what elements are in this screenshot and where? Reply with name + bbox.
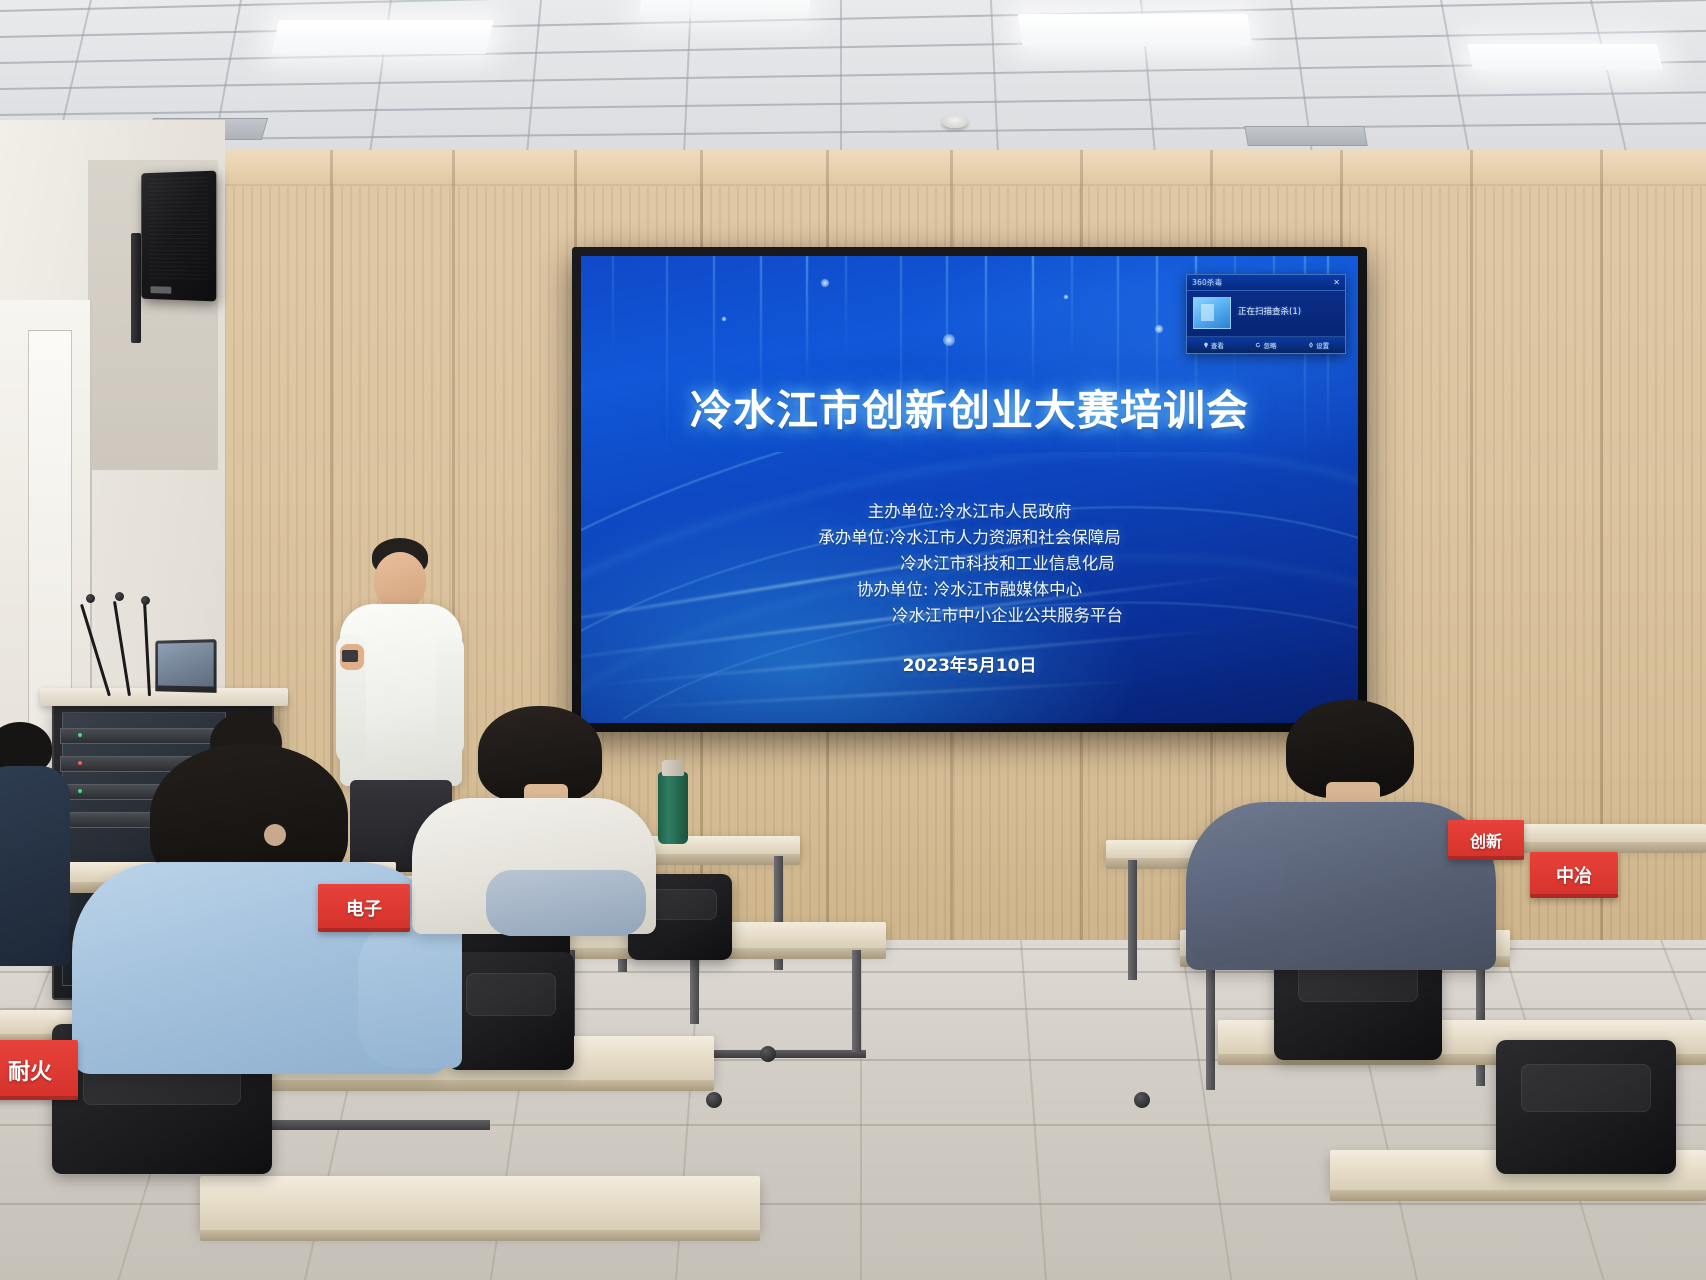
slide-glow-dot xyxy=(821,279,829,287)
gear-icon xyxy=(1308,342,1314,348)
bottle-cap xyxy=(662,760,684,776)
popup-body: 正在扫描查杀(1) xyxy=(1187,291,1345,336)
popup-title-text: 360杀毒 xyxy=(1192,277,1222,288)
table-row xyxy=(200,1176,760,1232)
slide-light-streak xyxy=(1032,256,1034,389)
placard-text: 创新 xyxy=(1470,828,1502,852)
placard-text: 中冶 xyxy=(1556,862,1592,888)
placard-fold xyxy=(1530,894,1618,898)
wood-wall-top-band xyxy=(215,150,1706,186)
slide-glow-dot xyxy=(1155,325,1163,333)
ceiling-light-panel xyxy=(271,20,494,54)
chair xyxy=(448,952,574,1070)
popup-button-bar: 查看 忽略 设置 xyxy=(1187,336,1345,353)
slide-light-streak xyxy=(1071,256,1073,364)
popup-button-label: 设置 xyxy=(1316,340,1329,350)
presenter-head xyxy=(374,552,426,610)
table-leg xyxy=(852,950,861,1052)
organizer-line: 协办单位: 冷水江市融媒体中心 xyxy=(581,577,1358,603)
placard-fold xyxy=(0,1096,78,1100)
table-edge xyxy=(1330,1190,1706,1201)
speaker-mount-arm xyxy=(131,233,141,343)
table-caster xyxy=(1134,1092,1150,1108)
slide-light-streak xyxy=(612,256,614,359)
table-placard: 中冶 xyxy=(1530,852,1618,898)
refresh-icon xyxy=(1255,342,1261,348)
popup-button-label: 忽略 xyxy=(1263,340,1276,350)
ceiling-speaker xyxy=(141,171,216,302)
table-placard: 耐火 xyxy=(0,1040,78,1100)
presenter-remote xyxy=(342,650,358,662)
table-caster xyxy=(760,1046,776,1062)
placard-text: 耐火 xyxy=(8,1054,52,1086)
slide-glow-dot xyxy=(1063,295,1068,300)
led-display-bezel: 冷水江市创新创业大赛培训会 主办单位:冷水江市人民政府 承办单位:冷水江市人力资… xyxy=(572,247,1367,732)
organizer-line: 承办单位:冷水江市人力资源和社会保障局 xyxy=(581,525,1358,551)
ceiling-grid-line xyxy=(0,61,1706,90)
chair xyxy=(1496,1040,1676,1174)
placard-text: 电子 xyxy=(346,895,382,921)
slide-light-streak xyxy=(845,256,847,362)
slide-organizer-block: 主办单位:冷水江市人民政府 承办单位:冷水江市人力资源和社会保障局 冷水江市科技… xyxy=(581,499,1358,629)
slide-title: 冷水江市创新创业大赛培训会 xyxy=(581,377,1358,438)
ceiling-air-vent xyxy=(1244,126,1368,146)
slide-glow-dot xyxy=(943,334,955,346)
popup-action-button-3[interactable]: 设置 xyxy=(1308,340,1329,350)
ceiling-light-panel xyxy=(1467,44,1663,70)
table-leg xyxy=(1206,958,1215,1090)
thermos-bottle[interactable] xyxy=(658,772,688,844)
attendee-arm xyxy=(486,870,646,936)
ceiling-grid-line xyxy=(0,91,1706,116)
led-display-screen[interactable]: 冷水江市创新创业大赛培训会 主办单位:冷水江市人民政府 承办单位:冷水江市人力资… xyxy=(581,256,1358,723)
slide-date: 2023年5月10日 xyxy=(581,651,1358,676)
organizer-line: 冷水江市科技和工业信息化局 xyxy=(581,551,1358,577)
floor-tile-line xyxy=(1020,940,1047,1280)
organizer-line: 冷水江市中小企业公共服务平台 xyxy=(581,603,1358,629)
smoke-detector-icon xyxy=(942,116,968,128)
presenter-laptop[interactable] xyxy=(155,639,216,693)
room-photo-scene: 冷水江市创新创业大赛培训会 主办单位:冷水江市人民政府 承办单位:冷水江市人力资… xyxy=(0,0,1706,1280)
attendee-arm xyxy=(358,918,462,1068)
close-icon[interactable]: ✕ xyxy=(1333,279,1340,287)
attendee-arm xyxy=(1186,850,1282,966)
person-attendee-white-jacket xyxy=(412,706,664,936)
placard-fold xyxy=(318,928,410,932)
ceiling-light-panel xyxy=(639,0,811,18)
microphone-head-icon xyxy=(86,594,95,603)
chair-backrest-opening xyxy=(1521,1064,1651,1112)
table-caster xyxy=(706,1092,722,1108)
slide-glow-dot xyxy=(721,316,726,321)
table-placard: 创新 xyxy=(1448,820,1524,860)
popup-action-button-2[interactable]: 忽略 xyxy=(1255,340,1276,350)
table-edge xyxy=(200,1230,760,1241)
chair-backrest-opening xyxy=(466,973,557,1015)
ceiling-light-panel xyxy=(1017,14,1252,46)
slide-light-streak xyxy=(806,256,808,386)
laptop-screen xyxy=(158,642,214,686)
speaker-badge xyxy=(151,286,172,294)
microphone-head-icon xyxy=(141,596,150,605)
attendee-ear-accessory xyxy=(264,824,286,846)
placard-fold xyxy=(1448,856,1524,860)
popup-action-button-1[interactable]: 查看 xyxy=(1203,340,1224,350)
organizer-line: 主办单位:冷水江市人民政府 xyxy=(581,499,1358,525)
table-placard: 电子 xyxy=(318,884,410,932)
popup-title-bar: 360杀毒 ✕ xyxy=(1187,275,1345,291)
popup-message-text: 正在扫描查杀(1) xyxy=(1238,307,1301,318)
speaker-grille xyxy=(149,177,209,281)
table-leg xyxy=(1128,860,1137,980)
shield-icon xyxy=(1193,297,1231,329)
microphone-head-icon xyxy=(115,592,124,601)
antivirus-popup-window[interactable]: 360杀毒 ✕ 正在扫描查杀(1) 查看 忽略 xyxy=(1186,274,1346,354)
lightbulb-icon xyxy=(1203,342,1209,348)
popup-button-label: 查看 xyxy=(1211,340,1224,350)
